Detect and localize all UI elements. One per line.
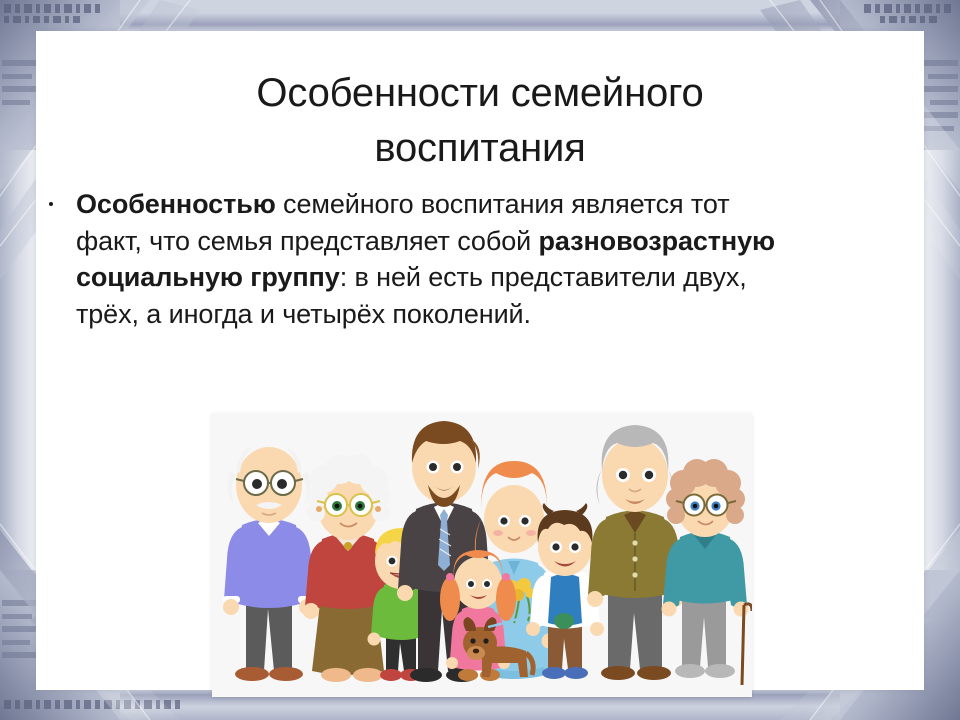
family-illustration-panel — [212, 413, 752, 697]
body-block: Особенностью семейного воспитания являет… — [40, 159, 924, 360]
body-paragraph: Особенностью семейного воспитания являет… — [76, 186, 776, 333]
bullet-dot-icon — [49, 202, 53, 206]
mosaic-motif-bottom-left — [4, 700, 180, 709]
family-illustration — [212, 413, 752, 697]
mosaic-motif-left-column — [2, 60, 36, 658]
slide: Особенности семейного воспитания Особенн… — [0, 0, 960, 720]
mosaic-motif-right-column — [924, 60, 958, 131]
mosaic-motif-top-left — [4, 4, 100, 23]
slide-content: Особенности семейного воспитания Особенн… — [36, 31, 924, 690]
list-item: Особенностью семейного воспитания являет… — [40, 186, 924, 333]
mosaic-motif-top-right — [864, 4, 951, 23]
